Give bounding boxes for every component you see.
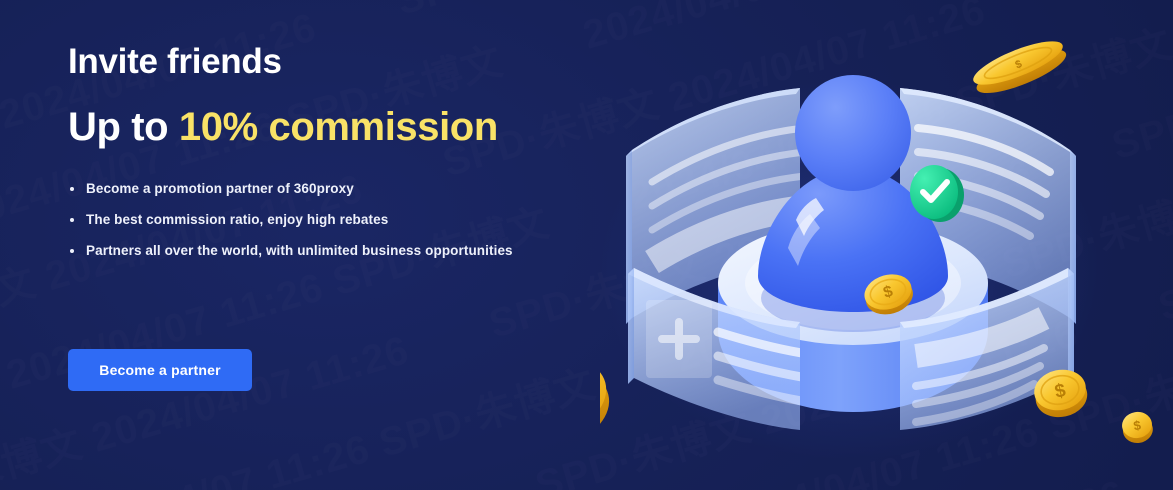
list-item: Become a promotion partner of 360proxy: [68, 180, 628, 199]
coin-top-right: $: [969, 33, 1071, 101]
subheadline-prefix: Up to: [68, 105, 179, 149]
watermark-text: SPD·朱博文 2024/04/07 11:26: [0, 479, 461, 490]
coin-large-bottom-left: $: [600, 346, 617, 458]
list-item: Partners all over the world, with unlimi…: [68, 242, 628, 261]
invite-friends-banner: SPD·朱博文 2024/04/07 11:26SPD·朱博文 2024/04/…: [0, 0, 1173, 490]
subheadline-accent: 10% commission: [179, 105, 498, 149]
list-item: The best commission ratio, enjoy high re…: [68, 211, 628, 230]
page-title: Invite friends: [68, 42, 628, 82]
become-a-partner-button[interactable]: Become a partner: [68, 349, 252, 391]
copy-block: Invite friends Up to 10% commission Beco…: [68, 42, 628, 273]
coin-far-bottom-right: $: [1120, 410, 1155, 446]
hero-illustration: $: [600, 0, 1173, 490]
subheadline: Up to 10% commission: [68, 104, 628, 150]
watermark-text: SPD·朱博文 2024/04/07 11:26: [0, 317, 415, 490]
benefit-list: Become a promotion partner of 360proxy T…: [68, 180, 628, 261]
